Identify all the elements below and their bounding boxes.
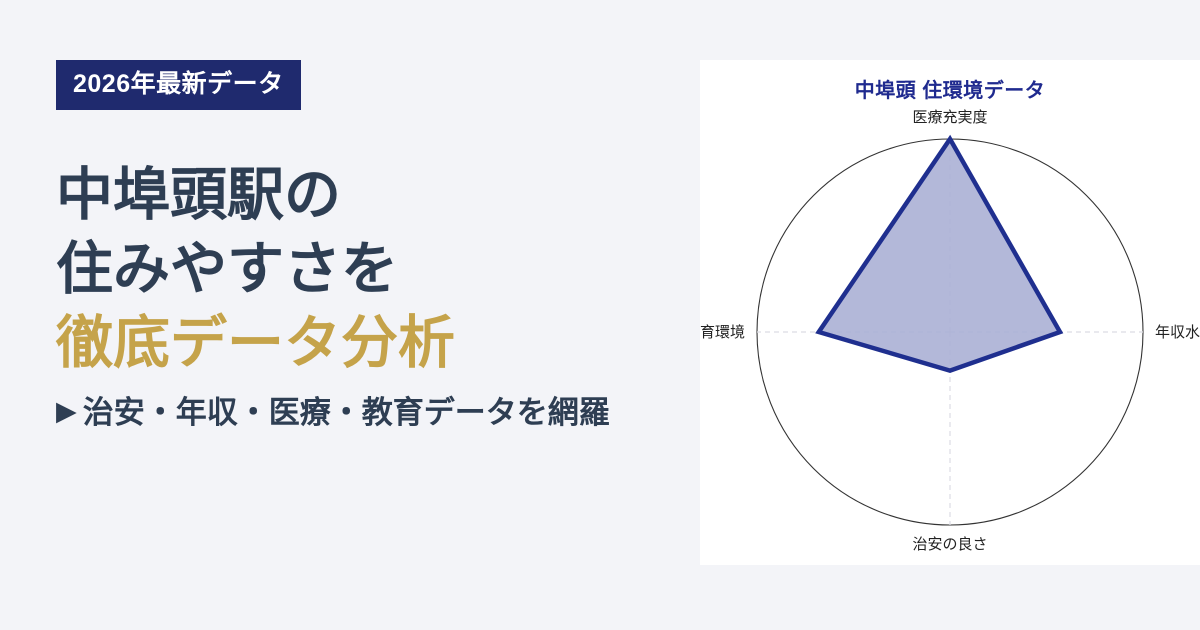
headline-line-1: 中埠頭駅の bbox=[56, 158, 700, 232]
headline-line-accent: 徹底データ分析 bbox=[56, 306, 700, 380]
radar-chart-panel: 中埠頭 住環境データ 医療充実度 年収水準 治安の良さ 教育環境 bbox=[700, 60, 1200, 565]
hero-text-column: 2026年最新データ 中埠頭駅の 住みやすさを 徹底データ分析 ▶ 治安・年収・… bbox=[0, 0, 700, 630]
hero-subline: ▶ 治安・年収・医療・教育データを網羅 bbox=[56, 394, 700, 431]
radar-series-polygon bbox=[819, 139, 1060, 371]
axis-label-top: 医療充実度 bbox=[912, 109, 987, 126]
axis-label-bottom: 治安の良さ bbox=[912, 536, 987, 553]
headline-line-2: 住みやすさを bbox=[56, 232, 700, 306]
hero-subline-text: 治安・年収・医療・教育データを網羅 bbox=[83, 394, 610, 431]
badge-latest-data: 2026年最新データ bbox=[56, 60, 301, 110]
page-title: 中埠頭駅の 住みやすさを 徹底データ分析 bbox=[56, 158, 700, 380]
axis-label-left: 教育環境 bbox=[700, 323, 745, 341]
triangle-bullet-icon: ▶ bbox=[56, 398, 77, 425]
axis-label-right: 年収水準 bbox=[1155, 324, 1200, 341]
radar-chart: 医療充実度 年収水準 治安の良さ 教育環境 bbox=[700, 60, 1200, 565]
